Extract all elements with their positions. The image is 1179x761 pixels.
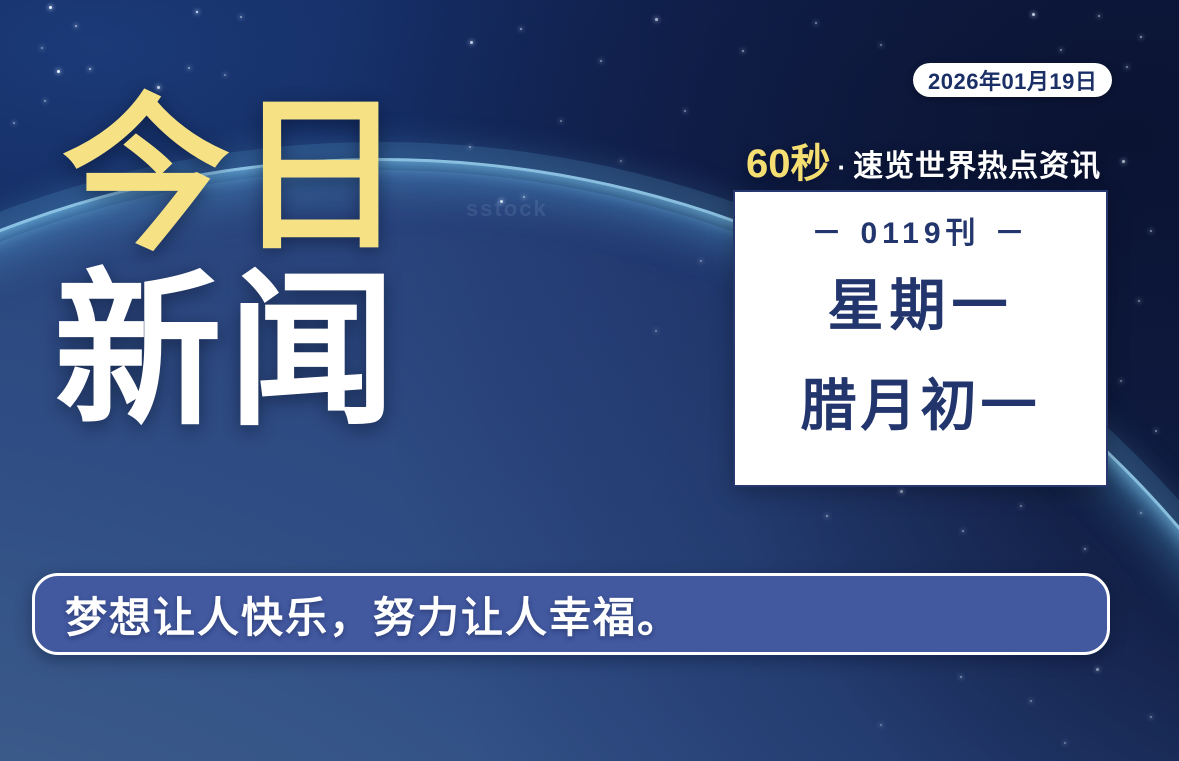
headline-line-2: 新闻 [54, 271, 702, 432]
issue-dash-left: － [811, 208, 846, 252]
issue-line: － 0119刊 － [811, 208, 1029, 252]
poster-canvas: sstock 今日 新闻 2026年01月19日 60秒 · 速览世界热点资讯 … [0, 0, 1179, 761]
weekday-label: 星期一 [828, 278, 1014, 334]
date-badge: 2026年01月19日 [913, 63, 1112, 97]
issue-number: 0119刊 [860, 208, 980, 252]
info-card: － 0119刊 － 星期一 腊月初一 [733, 190, 1108, 487]
quote-bar: 梦想让人快乐，努力让人幸福。 [32, 573, 1110, 655]
issue-dash-right: － [995, 208, 1030, 252]
date-badge-label: 2026年01月19日 [928, 64, 1097, 96]
tagline-rest: 速览世界热点资讯 [853, 152, 1101, 184]
headline-line-1: 今日 [62, 96, 702, 257]
tagline-seconds: 60秒 [746, 144, 831, 184]
headline-block: 今日 新闻 [62, 96, 702, 433]
quote-text: 梦想让人快乐，努力让人幸福。 [65, 584, 681, 645]
lunar-date-label: 腊月初一 [801, 378, 1041, 434]
tagline: 60秒 · 速览世界热点资讯 [746, 144, 1101, 184]
tagline-separator: · [835, 154, 850, 184]
